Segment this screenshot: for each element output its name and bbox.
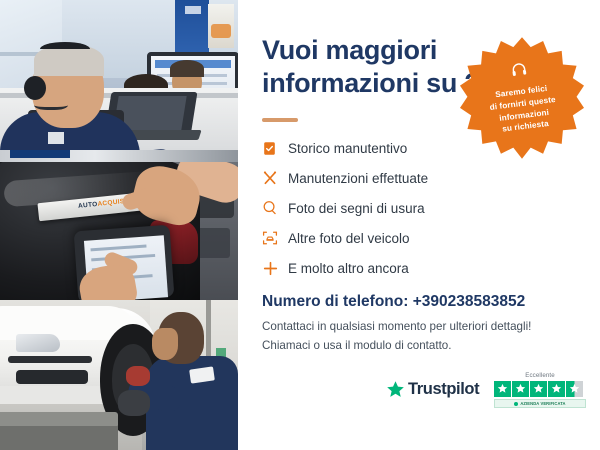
photo-vehicle-inspection: AUTOACQUISTO <box>0 150 238 300</box>
heading-line-1: Vuoi maggiori <box>262 35 437 65</box>
trustpilot-widget[interactable]: Trustpilot Eccellente <box>386 372 586 416</box>
magnifier-icon <box>262 200 288 216</box>
list-item-label: E molto altro ancora <box>288 261 409 276</box>
heading-line-2: informazioni su ? <box>262 68 480 98</box>
verified-badge: AZIENDA VERIFICATA <box>494 399 586 408</box>
photo-column: AUTOACQUISTO <box>0 0 238 450</box>
contact-description: Contattaci in qualsiasi momento per ulte… <box>262 318 531 356</box>
content-panel: Vuoi maggiori informazioni su ? Saremo f… <box>238 0 600 450</box>
page-title: Vuoi maggiori informazioni su ? <box>262 34 482 100</box>
star-icon <box>494 381 511 398</box>
check-dot-icon <box>514 402 518 406</box>
crossed-tools-icon <box>262 170 288 186</box>
plus-icon <box>262 260 288 277</box>
feature-list: Storico manutentivo Manutenzioni effettu… <box>262 133 582 283</box>
contact-line-1: Contattaci in qualsiasi momento per ulte… <box>262 320 531 333</box>
star-rating <box>494 381 586 398</box>
star-icon <box>548 381 565 398</box>
list-item[interactable]: Storico manutentivo <box>262 133 582 163</box>
star-half-icon <box>566 381 583 398</box>
list-item[interactable]: Manutenzioni effettuate <box>262 163 582 193</box>
star-icon <box>530 381 547 398</box>
car-frame-icon <box>262 230 288 246</box>
trustpilot-rating: Eccellente <box>494 372 586 408</box>
trustpilot-star-icon <box>386 380 405 399</box>
promo-banner: AUTOACQUISTO V <box>0 0 600 450</box>
photo-call-center <box>0 0 238 150</box>
phone-number[interactable]: Numero di telefono: +390238583852 <box>262 293 525 311</box>
contact-line-2: Chiamaci o usa il modulo di contatto. <box>262 339 451 352</box>
title-underline <box>262 118 298 122</box>
checked-document-icon <box>262 141 288 156</box>
list-item-label: Manutenzioni effettuate <box>288 171 428 186</box>
verified-label: AZIENDA VERIFICATA <box>520 401 565 406</box>
star-icon <box>512 381 529 398</box>
photo-mechanic-garage <box>0 300 238 450</box>
list-item-label: Foto dei segni di usura <box>288 201 425 216</box>
list-item[interactable]: Foto dei segni di usura <box>262 193 582 223</box>
list-item[interactable]: Altre foto del veicolo <box>262 223 582 253</box>
headset-icon <box>509 60 529 84</box>
rating-label: Eccellente <box>494 372 586 379</box>
trustpilot-logo: Trustpilot <box>386 380 479 399</box>
trustpilot-name: Trustpilot <box>408 380 479 399</box>
list-item-label: Storico manutentivo <box>288 141 407 156</box>
list-item[interactable]: E molto altro ancora <box>262 253 582 283</box>
list-item-label: Altre foto del veicolo <box>288 231 410 246</box>
